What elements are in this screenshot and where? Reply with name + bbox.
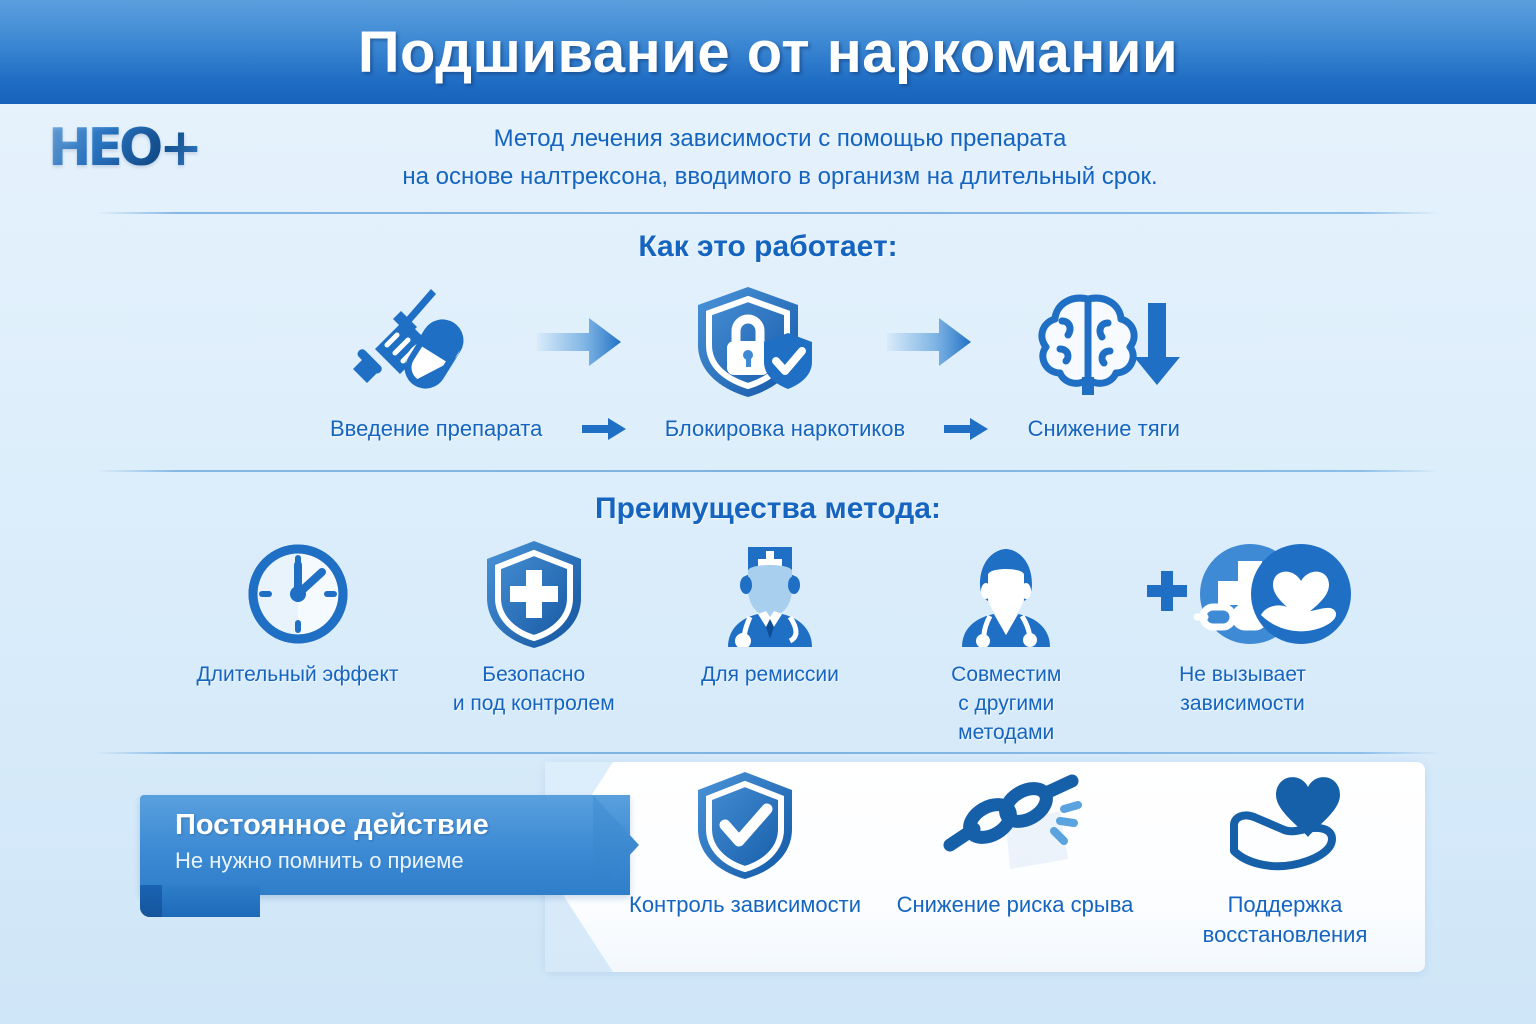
- panel-label-support: Поддержка восстановления: [1203, 890, 1368, 950]
- benefit-item-long-effect: Длительный эффект: [190, 540, 405, 689]
- benefit-label-safe: Безопасно и под контролем: [453, 660, 615, 718]
- benefits-title: Преимущества метода:: [0, 492, 1536, 526]
- page-title: Подшивание от наркомании: [358, 19, 1178, 86]
- doctor-nurse-icon: [714, 540, 826, 648]
- benefit-label-safe-line1: Безопасно: [453, 660, 615, 689]
- benefit-item-no-addiction: Не вызывает зависимости: [1135, 540, 1350, 718]
- benefit-label-long-effect: Длительный эффект: [196, 660, 398, 689]
- ribbon-subtitle: Не нужно помнить о приеме: [175, 845, 595, 877]
- hand-heart-icon: [1220, 770, 1350, 880]
- bottom-panel-items: Контроль зависимости: [610, 770, 1420, 970]
- benefit-label-no-addiction: Не вызывает зависимости: [1179, 660, 1306, 718]
- benefit-label-remission: Для ремиссии: [701, 660, 839, 689]
- divider-bottom: [96, 752, 1440, 754]
- intro-description: Метод лечения зависимости с помощью преп…: [300, 120, 1260, 196]
- benefit-item-safe: Безопасно и под контролем: [426, 540, 641, 718]
- benefit-label-compatible-line3: методами: [951, 718, 1061, 747]
- benefit-label-no-addiction-line1: Не вызывает: [1179, 660, 1306, 689]
- arrow-right-icon-2: [885, 312, 975, 372]
- divider-top: [96, 212, 1440, 214]
- panel-label-relapse: Снижение риска срыва: [897, 890, 1134, 920]
- benefit-item-compatible: Совместим с другими методами: [899, 540, 1114, 747]
- panel-item-control: Контроль зависимости: [620, 770, 870, 920]
- panel-item-relapse: Снижение риска срыва: [890, 770, 1140, 920]
- benefit-label-safe-line2: и под контролем: [453, 689, 615, 718]
- panel-label-support-line2: восстановления: [1203, 920, 1368, 950]
- doctor-stethoscope-icon: [950, 540, 1062, 648]
- neo-plus-logo: НЕО+: [48, 118, 248, 180]
- divider-middle: [96, 470, 1440, 472]
- intro-line-1: Метод лечения зависимости с помощью преп…: [300, 120, 1260, 158]
- shield-check-icon: [693, 770, 797, 880]
- broken-chain-icon: [940, 770, 1090, 880]
- how-step-label-3: Снижение тяги: [1028, 416, 1180, 442]
- shield-cross-icon: [482, 540, 586, 648]
- arrow-right-icon-small-1: [581, 416, 627, 442]
- clock-icon: [245, 540, 351, 648]
- how-it-works-title: Как это работает:: [0, 230, 1536, 264]
- ribbon-text-block: Постоянное действие Не нужно помнить о п…: [175, 805, 595, 877]
- benefit-label-no-addiction-line2: зависимости: [1179, 689, 1306, 718]
- how-step-label-2: Блокировка наркотиков: [665, 416, 905, 442]
- brain-down-arrow-icon: [1030, 282, 1180, 402]
- shield-lock-icon: [680, 282, 830, 402]
- arrow-right-icon-1: [535, 312, 625, 372]
- chain-heart-circles-icon: [1135, 540, 1351, 648]
- benefit-label-compatible-line2: с другими: [951, 689, 1061, 718]
- benefit-label-compatible: Совместим с другими методами: [951, 660, 1061, 747]
- benefit-label-compatible-line1: Совместим: [951, 660, 1061, 689]
- benefits-list: Длительный эффект Безопасно: [190, 540, 1350, 740]
- syringe-pill-icon: [330, 282, 480, 402]
- benefit-item-remission: Для ремиссии: [663, 540, 878, 689]
- infographic-poster: Подшивание от наркомании НЕО+ Метод лече…: [0, 0, 1536, 1024]
- how-step-label-1: Введение препарата: [330, 416, 542, 442]
- arrow-right-icon-small-2: [943, 416, 989, 442]
- intro-line-2: на основе налтрексона, вводимого в орган…: [300, 158, 1260, 196]
- intro-row: НЕО+ Метод лечения зависимости с помощью…: [0, 104, 1536, 204]
- panel-label-support-line1: Поддержка: [1203, 890, 1368, 920]
- panel-item-support: Поддержка восстановления: [1160, 770, 1410, 950]
- ribbon-title: Постоянное действие: [175, 805, 595, 845]
- ribbon-fold-edge: [140, 885, 162, 917]
- header-banner: Подшивание от наркомании: [0, 0, 1536, 104]
- how-it-works-labels: Введение препарата Блокировка наркотиков…: [330, 406, 1180, 452]
- panel-label-control: Контроль зависимости: [629, 890, 861, 920]
- how-it-works-icons: [330, 282, 1180, 402]
